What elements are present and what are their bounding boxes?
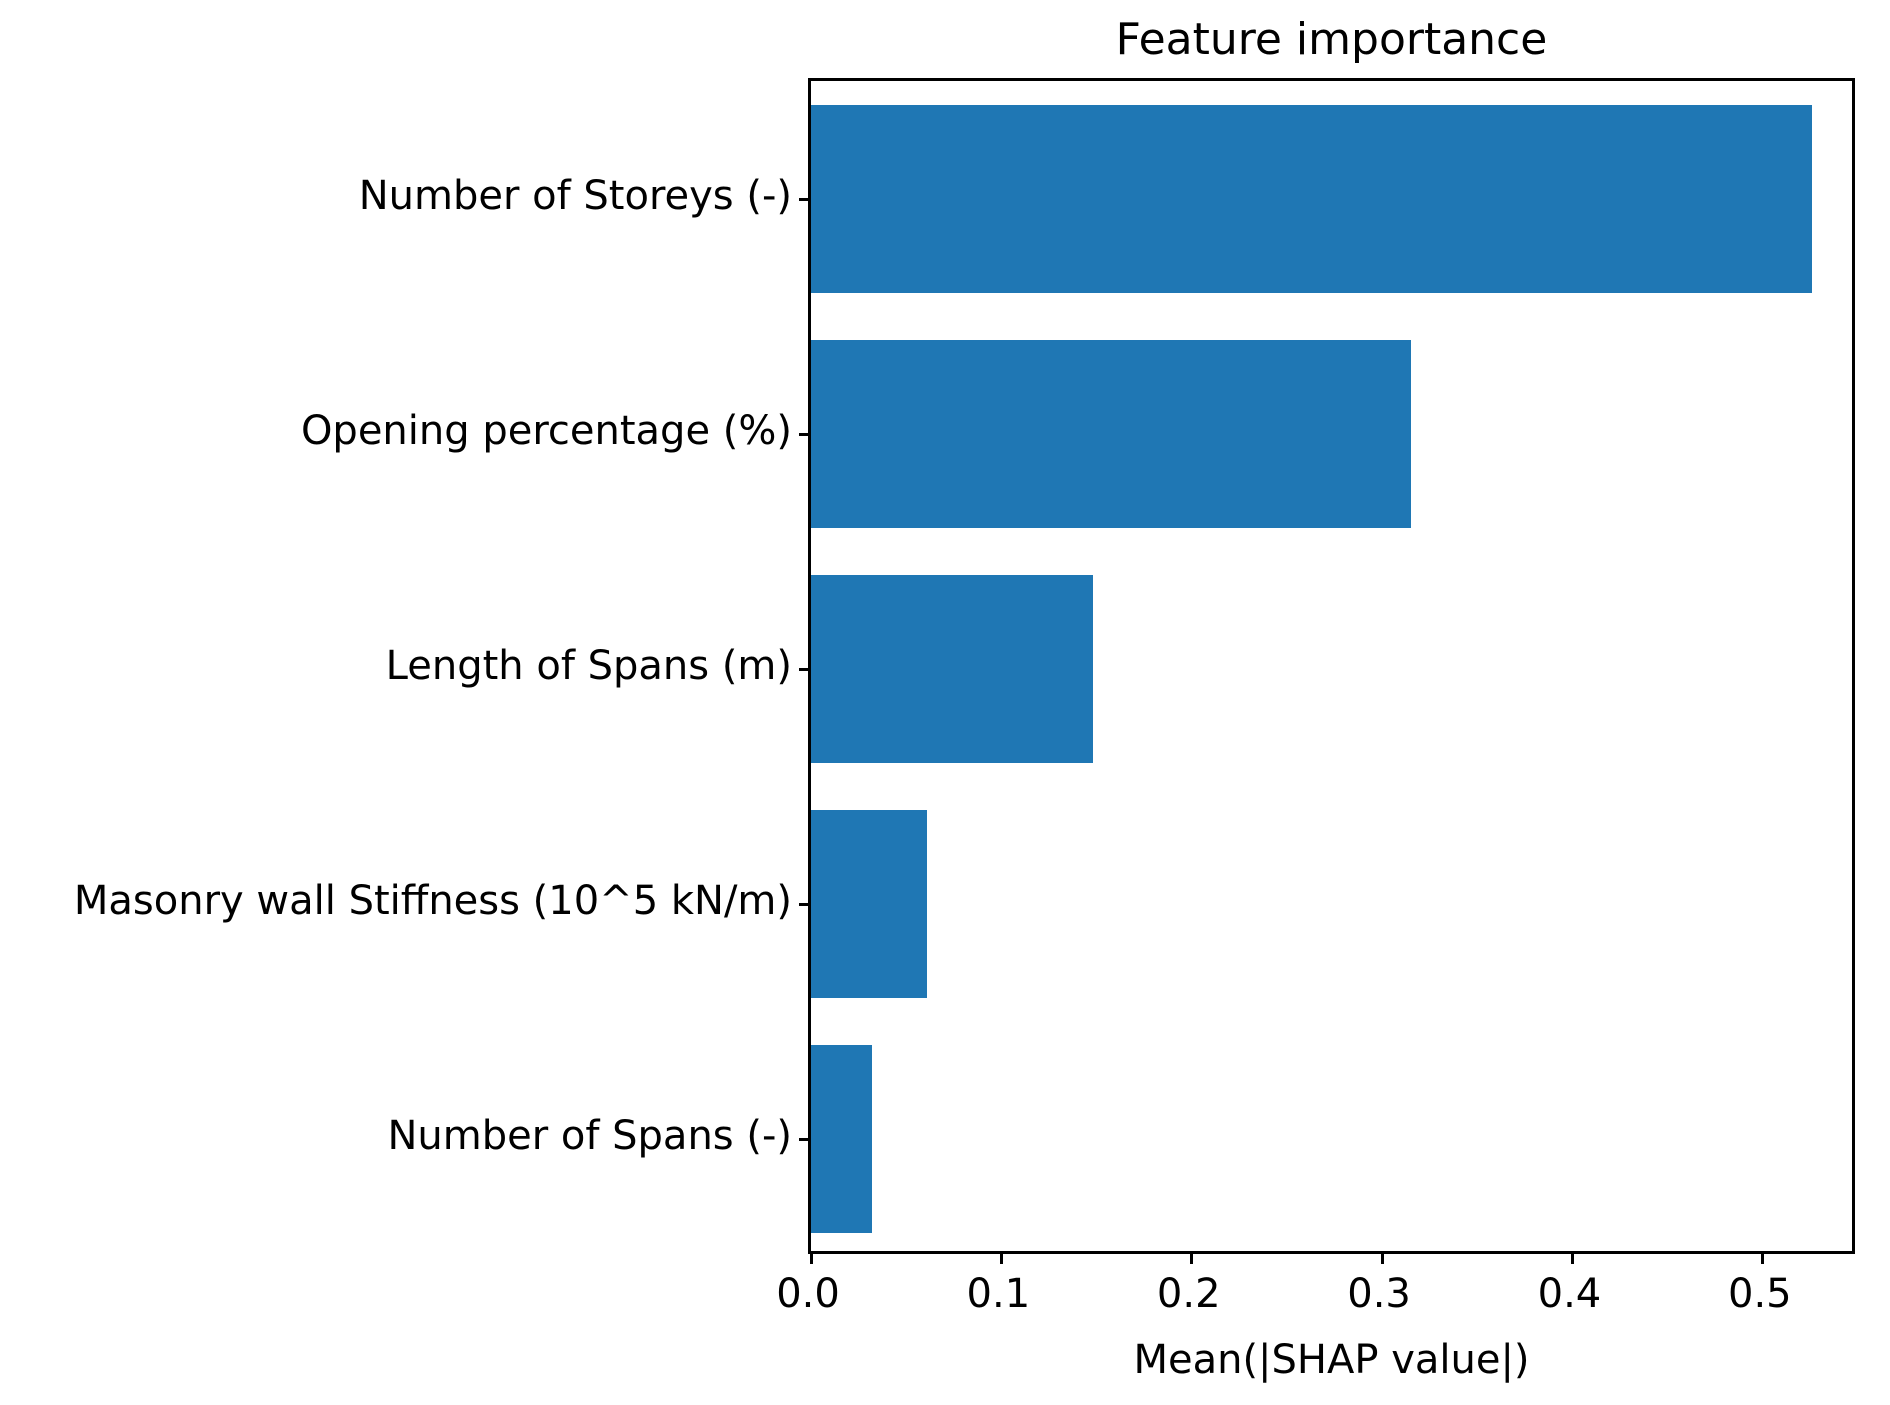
bar-row [811,105,1852,293]
bar-row [811,1045,1852,1233]
x-axis-tick-label: 0.1 [967,1272,1031,1316]
x-axis-tick-mark [1761,1251,1764,1264]
x-axis-tick-label: 0.4 [1538,1272,1602,1316]
figure-canvas: Feature importance Number of Storeys (-)… [0,0,1890,1405]
chart-title: Feature importance [808,14,1855,66]
x-axis-tick-mark [1381,1251,1384,1264]
bars-layer [811,81,1852,1251]
bar [811,575,1093,763]
bar-row [811,575,1852,763]
bar [811,105,1812,293]
bar [811,340,1411,528]
y-axis-tick-mark [799,668,811,671]
y-axis-tick-mark [799,198,811,201]
y-axis-tick-mark [799,1138,811,1141]
y-axis-tick-label: Number of Storeys (-) [359,176,792,216]
x-axis-tick-label: 0.3 [1347,1272,1411,1316]
y-axis-tick-mark [799,903,811,906]
plot-area [808,78,1855,1254]
x-axis-tick-mark [1000,1251,1003,1264]
bar-row [811,340,1852,528]
x-axis-tick-label: 0.5 [1728,1272,1792,1316]
y-axis-tick-label: Opening percentage (%) [301,411,792,451]
y-axis-tick-label: Masonry wall Stiffness (10^5 kN/m) [74,881,792,921]
x-axis-tick-mark [1571,1251,1574,1264]
x-axis-label: Mean(|SHAP value|) [808,1336,1855,1384]
y-axis-tick-label: Length of Spans (m) [386,646,792,686]
bar [811,1045,872,1233]
x-axis-tick-mark [810,1251,813,1264]
bar [811,810,927,998]
x-axis-tick-label: 0.2 [1157,1272,1221,1316]
y-axis-tick-label: Number of Spans (-) [387,1116,792,1156]
x-axis-tick-mark [1190,1251,1193,1264]
x-axis-tick-label: 0.0 [776,1272,840,1316]
bar-row [811,810,1852,998]
y-axis-tick-mark [799,433,811,436]
